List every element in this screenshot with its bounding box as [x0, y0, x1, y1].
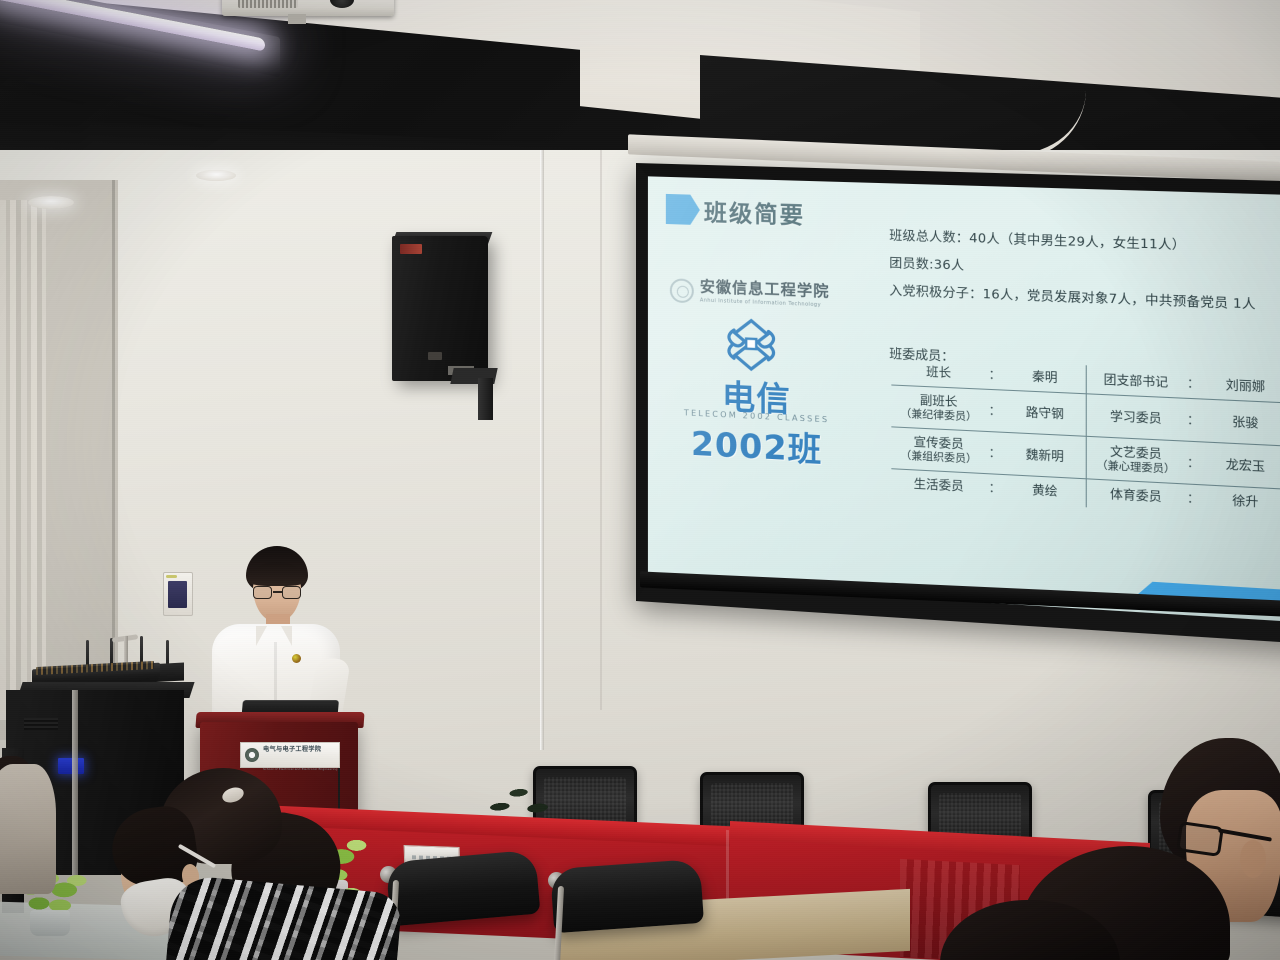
- colon-3-left: ：: [986, 474, 1003, 503]
- class-statistics: 班级总人数：40人（其中男生29人，女生11人） 团员数:36人 入党积极分子：…: [889, 228, 1280, 318]
- university-logo: 安徽信息工程学院 Anhui Institute of Information …: [670, 272, 863, 316]
- speaker-bracket-arm: [478, 378, 493, 420]
- name-arts-officer: 龙宏玉: [1202, 442, 1280, 489]
- audience-man-glasses-icon: [1178, 824, 1272, 854]
- name-publicity-officer: 魏新明: [1004, 432, 1087, 479]
- av-control-panel-screen[interactable]: [168, 581, 187, 608]
- wall-seam-center-2: [600, 150, 602, 710]
- glasses-lens-left: [253, 586, 272, 599]
- slide-title: 班级简要: [704, 193, 805, 231]
- name-deputy-monitor: 路守钢: [1004, 390, 1087, 436]
- rack-display-screen: [58, 758, 84, 774]
- classroom-photo-scene: 班级简要 安徽信息工程学院 Anhui Institute of Informa…: [0, 0, 1280, 960]
- window-curtain: [0, 200, 46, 720]
- name-sports-officer: 徐升: [1202, 485, 1280, 518]
- colon-2-right: ：: [1185, 441, 1203, 485]
- role-deputy-monitor: 副班长 （兼纪律委员）: [891, 385, 986, 432]
- role-welfare-officer: 生活委员: [891, 469, 986, 502]
- slide-title-chevron-icon: [666, 194, 700, 225]
- chair-front-1: [385, 850, 540, 927]
- podium-plaque: 电气与电子工程学院 School of Electrical and Elect…: [240, 742, 340, 768]
- audience-woman-plaid-jacket: [163, 874, 403, 960]
- podium-seal-icon: [245, 748, 259, 762]
- audience-glasses-lens: [1176, 821, 1224, 857]
- presenter-collar-right: [281, 626, 292, 646]
- podium-plaque-text-en: School of Electrical and Electronic Engi…: [263, 767, 338, 771]
- role-publicity-officer: 宣传委员 （兼组织委员）: [891, 427, 986, 474]
- rack-vent-icon: [24, 718, 58, 730]
- name-league-secretary: 刘丽娜: [1202, 370, 1280, 403]
- name-monitor: 秦明: [1004, 362, 1087, 394]
- role-arts-officer: 文艺委员 （兼心理委员）: [1087, 436, 1185, 484]
- class-committee-table: 班长 ： 秦明 团支部书记 ： 刘丽娜 副班长: [891, 357, 1280, 519]
- glasses-lens-right: [282, 586, 301, 599]
- audience-woman-masked: [56, 780, 386, 960]
- recessed-downlight-icon-2: [196, 170, 236, 181]
- colon-1-left: ：: [986, 389, 1003, 432]
- role-monitor: 班长: [891, 357, 986, 389]
- audience-partial-left: [0, 764, 56, 894]
- role-sports-officer: 体育委员: [1087, 479, 1185, 513]
- projection-screen-surface: 班级简要 安徽信息工程学院 Anhui Institute of Informa…: [648, 176, 1280, 622]
- role-study-officer: 学习委员: [1087, 394, 1185, 441]
- colon-0-right: ：: [1185, 369, 1203, 399]
- presenter-lapel-pin-icon: [292, 654, 301, 663]
- stat-total-students: 班级总人数：40人（其中男生29人，女生11人）: [889, 228, 1280, 256]
- colon-1-right: ：: [1185, 398, 1203, 442]
- name-study-officer: 张骏: [1202, 399, 1280, 446]
- glasses-bridge: [273, 591, 282, 593]
- projector-vent-icon: [238, 0, 298, 8]
- speaker-logo-icon: [428, 352, 442, 360]
- university-seal-icon: [670, 278, 694, 303]
- recessed-downlight-icon: [28, 196, 74, 209]
- speaker-brand-badge: [400, 244, 422, 254]
- role-league-secretary: 团支部书记: [1087, 365, 1185, 398]
- presenter-collar-left: [256, 626, 267, 646]
- wall-seam-center: [540, 150, 544, 750]
- class-emblem-icon: [720, 315, 783, 374]
- audience-glasses-temple: [1218, 828, 1272, 841]
- colon-0-left: ：: [986, 361, 1003, 390]
- stat-league-members: 团员数:36人: [889, 256, 1280, 285]
- colon-3-right: ：: [1185, 484, 1203, 514]
- projection-screen: 班级简要 安徽信息工程学院 Anhui Institute of Informa…: [636, 163, 1280, 644]
- podium-plaque-text-cn: 电气与电子工程学院: [263, 746, 321, 753]
- presentation-slide: 班级简要 安徽信息工程学院 Anhui Institute of Informa…: [648, 176, 1280, 622]
- stat-party-applicants: 入党积极分子：16人，党员发展对象7人，中共预备党员 1人: [889, 283, 1280, 312]
- presenter-glasses-icon: [252, 586, 302, 599]
- colon-2-left: ：: [986, 432, 1003, 475]
- name-welfare-officer: 黄绘: [1004, 475, 1087, 508]
- projector-mount: [288, 14, 306, 24]
- av-control-panel-led: [166, 575, 177, 578]
- chair-front-2: [550, 859, 704, 933]
